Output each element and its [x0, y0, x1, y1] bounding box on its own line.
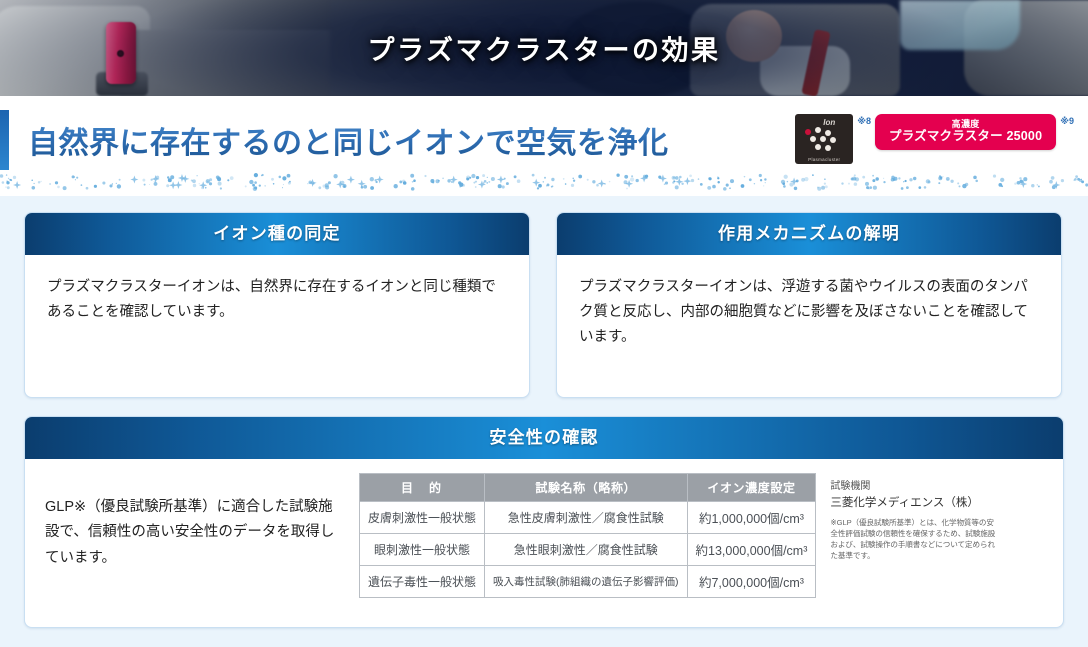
column-header-ion-density: イオン濃度設定	[687, 474, 816, 502]
card-body: プラズマクラスターイオンは、自然界に存在するイオンと同じ種類であることを確認して…	[25, 255, 529, 345]
card-ion-identification: イオン種の同定 プラズマクラスターイオンは、自然界に存在するイオンと同じ種類であ…	[24, 212, 530, 398]
cell-ion-density: 約13,000,000個/cm³	[687, 534, 816, 566]
glp-description: GLP※（優良試験所基準）に適合した試験施設で、信頼性の高い安全性のデータを取得…	[45, 473, 345, 571]
top-card-row: イオン種の同定 プラズマクラスターイオンは、自然界に存在するイオンと同じ種類であ…	[24, 212, 1064, 398]
page-title: 自然界に存在するのと同じイオンで空気を浄化	[28, 118, 669, 162]
cell-ion-density: 約7,000,000個/cm³	[687, 566, 816, 598]
plasmacluster-logo-icon: Ion Plasmacluster	[795, 114, 853, 164]
card-body: プラズマクラスターイオンは、浮遊する菌やウイルスの表面のタンパク質と反応し、内部…	[557, 255, 1061, 370]
cell-test-name: 急性皮膚刺激性／腐食性試験	[485, 502, 688, 534]
org-name: 三菱化学メディエンス（株）	[830, 494, 998, 512]
badge-line1: 高濃度	[889, 119, 1042, 129]
glp-footnote: ※GLP（優良試験所基準）とは、化学物質等の安全性評価試験の信頼性を確保するため…	[830, 517, 998, 561]
card-mechanism: 作用メカニズムの解明 プラズマクラスターイオンは、浮遊する菌やウイルスの表面のタ…	[556, 212, 1062, 398]
table-row: 遺伝子毒性一般状態 吸入毒性試験(肺組織の遺伝子影響評価) 約7,000,000…	[360, 566, 816, 598]
org-label: 試験機関	[830, 479, 998, 494]
ion-sparkle-pattern-icon	[0, 172, 1088, 192]
cell-purpose: 遺伝子毒性一般状態	[360, 566, 485, 598]
hero-title: プラズマクラスターの効果	[0, 29, 1088, 68]
cell-ion-density: 約1,000,000個/cm³	[687, 502, 816, 534]
column-header-purpose: 目 的	[360, 474, 485, 502]
safety-test-table: 目 的 試験名称（略称） イオン濃度設定 皮膚刺激性一般状態 急性皮膚刺激性／腐…	[359, 473, 816, 598]
cell-purpose: 皮膚刺激性一般状態	[360, 502, 485, 534]
column-header-test-name: 試験名称（略称）	[485, 474, 688, 502]
testing-organization: 試験機関 三菱化学メディエンス（株） ※GLP（優良試験所基準）とは、化学物質等…	[830, 473, 998, 561]
high-density-badge: 高濃度 プラズマクラスター 25000	[875, 114, 1056, 150]
logo-ion-label: Ion	[823, 118, 835, 127]
badge-line2: プラズマクラスター 25000	[889, 129, 1042, 143]
cell-test-name: 急性眼刺激性／腐食性試験	[485, 534, 688, 566]
card-title: イオン種の同定	[25, 213, 529, 255]
accent-bar	[0, 110, 9, 170]
table-row: 皮膚刺激性一般状態 急性皮膚刺激性／腐食性試験 約1,000,000個/cm³	[360, 502, 816, 534]
footnote-marker-8: ※8	[857, 114, 871, 127]
card-title: 安全性の確認	[25, 417, 1063, 459]
card-title: 作用メカニズムの解明	[557, 213, 1061, 255]
headline-section: 自然界に存在するのと同じイオンで空気を浄化 Ion Plasmacluster …	[0, 96, 1088, 196]
cell-test-name: 吸入毒性試験(肺組織の遺伝子影響評価)	[485, 566, 688, 598]
ion-wave-divider	[0, 172, 1088, 192]
table-header-row: 目 的 試験名称（略称） イオン濃度設定	[360, 474, 816, 502]
table-row: 眼刺激性一般状態 急性眼刺激性／腐食性試験 約13,000,000個/cm³	[360, 534, 816, 566]
content-area: イオン種の同定 プラズマクラスターイオンは、自然界に存在するイオンと同じ種類であ…	[0, 196, 1088, 647]
logo-brand-label: Plasmacluster	[795, 157, 853, 162]
cell-purpose: 眼刺激性一般状態	[360, 534, 485, 566]
logo-dot-cluster-icon	[805, 127, 843, 152]
badge-group: Ion Plasmacluster ※8 高濃度 プラズマクラスター 25000…	[795, 114, 1074, 164]
footnote-marker-9: ※9	[1060, 114, 1074, 127]
hero-banner: プラズマクラスターの効果	[0, 0, 1088, 96]
card-safety-confirmation: 安全性の確認 GLP※（優良試験所基準）に適合した試験施設で、信頼性の高い安全性…	[24, 416, 1064, 628]
